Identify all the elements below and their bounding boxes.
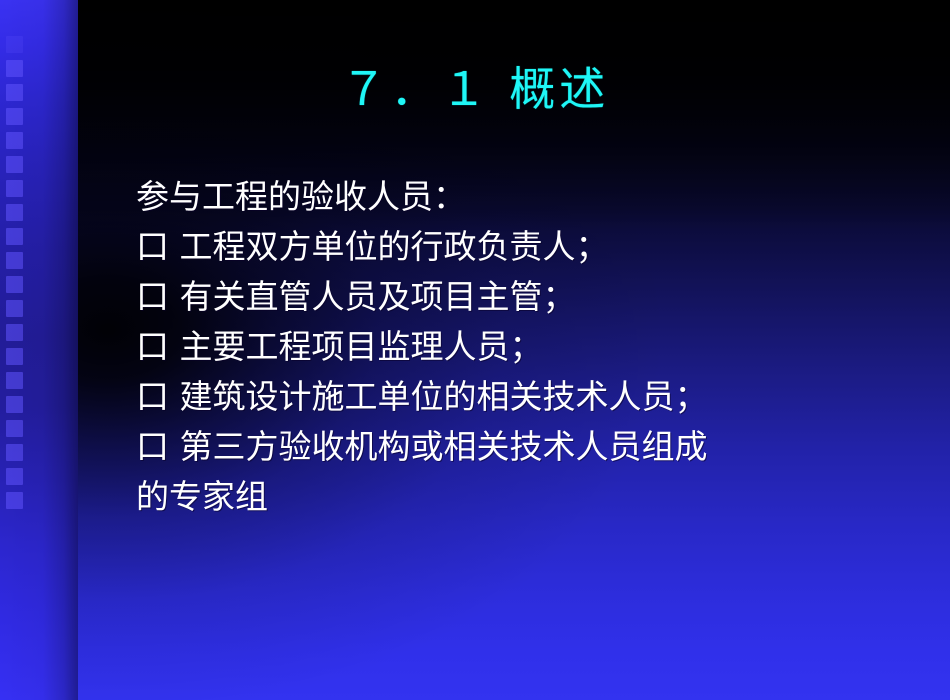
- bullet-line: 口 建筑设计施工单位的相关技术人员；: [136, 372, 926, 422]
- slide-body: 参与工程的验收人员：口 工程双方单位的行政负责人；口 有关直管人员及项目主管；口…: [136, 172, 926, 522]
- slide-title: ７．１ 概述: [0, 58, 950, 120]
- text-line: 参与工程的验收人员：: [136, 172, 926, 222]
- bullet-line: 口 有关直管人员及项目主管；: [136, 272, 926, 322]
- bullet-line: 口 第三方验收机构或相关技术人员组成: [136, 422, 926, 472]
- presentation-slide: ７．１ 概述 参与工程的验收人员：口 工程双方单位的行政负责人；口 有关直管人员…: [0, 0, 950, 700]
- bullet-line: 口 工程双方单位的行政负责人；: [136, 222, 926, 272]
- bullet-line: 口 主要工程项目监理人员；: [136, 322, 926, 372]
- text-line: 的专家组: [136, 472, 926, 522]
